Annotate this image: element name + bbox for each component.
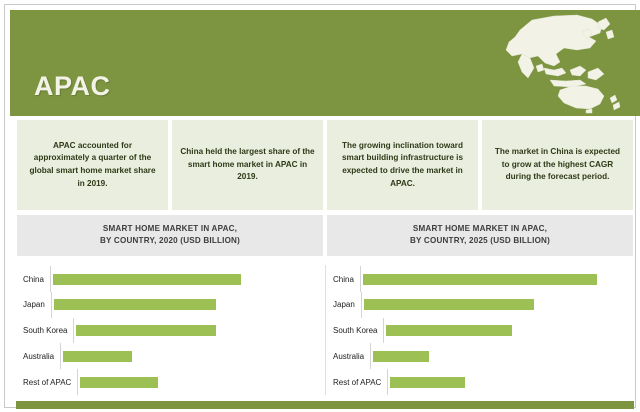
header-banner: APAC [10,10,640,116]
bar-row: China [23,266,313,292]
chart-body-2020: ChinaJapanSouth KoreaAustraliaRest of AP… [17,256,323,403]
bar-value [373,351,429,362]
bar-category-label: Japan [23,300,51,309]
bar-row: South Korea [333,318,623,344]
callout-box-1: APAC accounted for approximately a quart… [17,120,168,210]
bar-value [54,299,216,310]
footer-accent-bar [16,401,634,409]
bar-value [390,377,464,388]
bar-value [80,377,158,388]
bar-track [360,266,623,292]
chart-title-2025-line1: SMART HOME MARKET IN APAC, [333,223,627,235]
bar-track [50,266,313,292]
callout-text-1: APAC accounted for approximately a quart… [25,140,160,191]
callout-box-2: China held the largest share of the smar… [172,120,323,210]
bar-category-label: Rest of APAC [333,378,387,387]
bar-chart-2020: ChinaJapanSouth KoreaAustraliaRest of AP… [23,266,313,395]
bar-category-label: Japan [333,300,361,309]
bar-track [77,369,313,395]
callout-text-3: The growing inclination toward smart bui… [335,140,470,191]
callout-text-2: China held the largest share of the smar… [180,146,315,184]
bar-category-label: South Korea [333,326,383,335]
bar-track [383,318,623,344]
infographic-frame: APAC [4,4,636,408]
page-title: APAC [34,71,111,102]
chart-panel-row: SMART HOME MARKET IN APAC, BY COUNTRY, 2… [10,215,640,403]
bar-row: Australia [333,343,623,369]
bar-row: China [333,266,623,292]
bar-category-label: Australia [333,352,370,361]
bar-value [76,325,216,336]
apac-region-map-icon [414,10,634,116]
panel-divider [325,265,326,395]
bar-chart-2025: ChinaJapanSouth KoreaAustraliaRest of AP… [333,266,623,395]
bar-category-label: China [333,275,360,284]
chart-body-2025: ChinaJapanSouth KoreaAustraliaRest of AP… [327,256,633,403]
bar-track [370,343,623,369]
bar-row: South Korea [23,318,313,344]
chart-title-2025: SMART HOME MARKET IN APAC, BY COUNTRY, 2… [327,215,633,256]
chart-panel-2020: SMART HOME MARKET IN APAC, BY COUNTRY, 2… [17,215,323,403]
chart-title-2020-line2: BY COUNTRY, 2020 (USD BILLION) [23,235,317,247]
bar-track [73,318,313,344]
bar-track [51,292,313,318]
bar-track [60,343,313,369]
chart-title-2020: SMART HOME MARKET IN APAC, BY COUNTRY, 2… [17,215,323,256]
chart-title-2020-line1: SMART HOME MARKET IN APAC, [23,223,317,235]
bar-category-label: Australia [23,352,60,361]
bar-category-label: China [23,275,50,284]
bar-value [63,351,132,362]
bar-value [53,274,242,285]
callout-row: APAC accounted for approximately a quart… [10,120,640,210]
bar-row: Rest of APAC [333,369,623,395]
bar-track [387,369,623,395]
bar-row: Australia [23,343,313,369]
callout-text-4: The market in China is expected to grow … [490,146,625,184]
chart-panel-2025: SMART HOME MARKET IN APAC, BY COUNTRY, 2… [327,215,633,403]
chart-title-2025-line2: BY COUNTRY, 2025 (USD BILLION) [333,235,627,247]
bar-row: Japan [333,292,623,318]
bar-category-label: South Korea [23,326,73,335]
callout-box-4: The market in China is expected to grow … [482,120,633,210]
bar-value [363,274,597,285]
bar-category-label: Rest of APAC [23,378,77,387]
bar-track [361,292,623,318]
callout-box-3: The growing inclination toward smart bui… [327,120,478,210]
bar-row: Rest of APAC [23,369,313,395]
bar-value [386,325,511,336]
bar-row: Japan [23,292,313,318]
bar-value [364,299,534,310]
